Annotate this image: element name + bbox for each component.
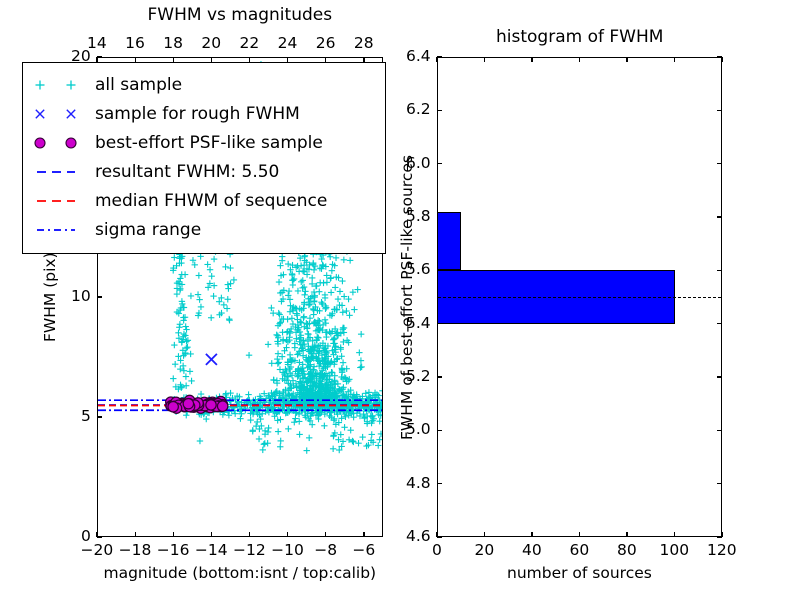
left-x-axis-label: magnitude (bottom:isnt / top:calib) xyxy=(104,564,377,582)
left-top-x-tick-label: 18 xyxy=(163,34,183,52)
right-y-tick xyxy=(437,56,442,57)
right-x-tick xyxy=(579,532,580,537)
right-x-tick-label: 20 xyxy=(475,541,495,559)
right-y-tick-right xyxy=(717,536,722,537)
left-y-tick-label: 5 xyxy=(81,407,91,425)
legend: all samplesample for rough FWHMbest-effo… xyxy=(22,62,386,254)
left-y-tick xyxy=(97,536,102,537)
right-x-tick-top xyxy=(484,57,485,62)
right-y-tick-label: 5.4 xyxy=(406,314,431,332)
left-y-tick-label: 10 xyxy=(71,287,91,305)
legend-item-label: best-effort PSF-like sample xyxy=(95,130,323,156)
right-y-tick-label: 5.2 xyxy=(406,367,431,385)
legend-item-label: all sample xyxy=(95,72,182,98)
legend-item: median FHWM of sequence xyxy=(95,188,327,214)
right-y-tick xyxy=(437,110,442,111)
legend-item: resultant FWHM: 5.50 xyxy=(95,159,279,185)
right-y-tick-label: 6.2 xyxy=(406,100,431,118)
left-x-tick-label: −6 xyxy=(352,541,375,559)
right-x-tick-top xyxy=(721,57,722,62)
right-y-tick-right xyxy=(717,216,722,217)
right-x-tick-label: 120 xyxy=(707,541,737,559)
left-x-tick xyxy=(363,532,364,537)
left-x-tick xyxy=(249,532,250,537)
right-y-tick-right xyxy=(717,483,722,484)
left-top-x-tick-label: 26 xyxy=(316,34,336,52)
legend-item: all sample xyxy=(95,72,182,98)
right-y-tick-right xyxy=(717,163,722,164)
left-y-tick xyxy=(97,416,102,417)
right-y-tick-right xyxy=(717,110,722,111)
left-top-x-tick-label: 20 xyxy=(201,34,221,52)
legend-item-label: median FHWM of sequence xyxy=(95,188,327,214)
left-y-axis-label: FWHM (pix) xyxy=(41,252,59,342)
right-x-tick-label: 80 xyxy=(617,541,637,559)
right-y-tick-label: 5.6 xyxy=(406,260,431,278)
right-chart-title: histogram of FWHM xyxy=(496,27,663,47)
right-y-tick xyxy=(437,483,442,484)
right-y-tick-right xyxy=(717,56,722,57)
histogram-median-line xyxy=(438,297,721,298)
legend-item-label: resultant FWHM: 5.50 xyxy=(95,159,279,185)
legend-item-label: sigma range xyxy=(95,217,201,243)
right-x-tick-label: 100 xyxy=(660,541,690,559)
right-x-tick-label: 40 xyxy=(522,541,542,559)
left-x-tick xyxy=(173,532,174,537)
left-x-tick xyxy=(211,532,212,537)
left-x-tick-label: −8 xyxy=(314,541,337,559)
right-y-tick xyxy=(437,430,442,431)
left-x-tick xyxy=(135,532,136,537)
right-x-tick-top xyxy=(626,57,627,62)
left-y-tick-label: 0 xyxy=(81,527,91,545)
left-x-tick-label: −10 xyxy=(271,541,304,559)
right-x-tick-top xyxy=(436,57,437,62)
right-y-tick-right xyxy=(717,376,722,377)
left-top-x-tick-label: 16 xyxy=(125,34,145,52)
legend-item: sigma range xyxy=(95,217,201,243)
left-x-tick-label: −12 xyxy=(233,541,266,559)
right-y-tick-label: 4.6 xyxy=(406,527,431,545)
right-x-axis-label: number of sources xyxy=(507,564,652,582)
right-x-tick-label: 0 xyxy=(432,541,442,559)
right-y-tick-label: 4.8 xyxy=(406,474,431,492)
right-y-tick xyxy=(437,163,442,164)
legend-item: best-effort PSF-like sample xyxy=(95,130,323,156)
left-x-tick-label: −18 xyxy=(119,541,152,559)
right-x-tick-label: 60 xyxy=(570,541,590,559)
right-y-tick-right xyxy=(717,323,722,324)
left-x-tick xyxy=(287,532,288,537)
right-x-tick xyxy=(626,532,627,537)
histogram-bar xyxy=(437,212,461,271)
right-x-tick xyxy=(674,532,675,537)
legend-item: sample for rough FWHM xyxy=(95,101,300,127)
right-x-tick-top xyxy=(531,57,532,62)
right-x-tick xyxy=(484,532,485,537)
legend-item-label: sample for rough FWHM xyxy=(95,101,300,127)
right-y-axis-label: FWHM of best-effort PSF-like sources xyxy=(398,154,416,439)
left-x-tick-label: −14 xyxy=(195,541,228,559)
right-x-tick-top xyxy=(579,57,580,62)
left-y-tick xyxy=(97,296,102,297)
right-y-tick xyxy=(437,536,442,537)
left-x-tick xyxy=(325,532,326,537)
right-y-tick xyxy=(437,376,442,377)
left-y-tick xyxy=(97,56,102,57)
right-y-tick-right xyxy=(717,270,722,271)
right-y-tick-label: 5.0 xyxy=(406,420,431,438)
right-y-tick-right xyxy=(717,430,722,431)
left-top-x-tick-label: 28 xyxy=(354,34,374,52)
right-y-tick-label: 5.8 xyxy=(406,207,431,225)
left-x-tick-label: −16 xyxy=(157,541,190,559)
figure-canvas: FWHM vs magnitudes magnitude (bottom:isn… xyxy=(0,0,800,600)
right-x-tick xyxy=(531,532,532,537)
left-top-x-tick-label: 24 xyxy=(278,34,298,52)
left-top-x-tick-label: 22 xyxy=(240,34,260,52)
right-x-tick-top xyxy=(674,57,675,62)
right-y-tick-label: 6.0 xyxy=(406,154,431,172)
right-y-tick-label: 6.4 xyxy=(406,47,431,65)
